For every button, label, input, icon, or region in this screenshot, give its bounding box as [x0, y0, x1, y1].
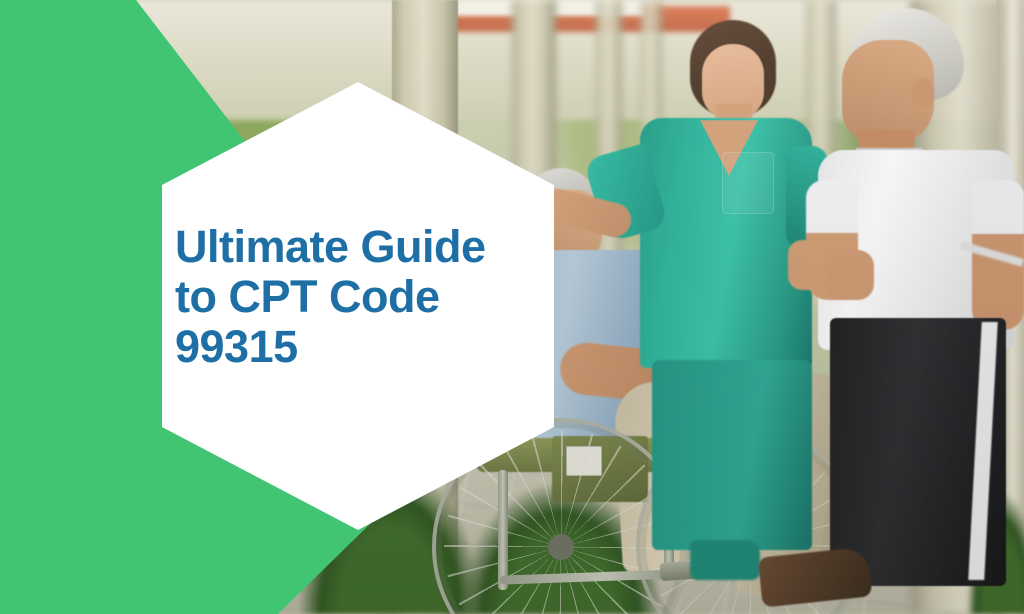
page-title: Ultimate Guide to CPT Code 99315 — [175, 222, 555, 372]
standing-man-ear — [912, 78, 934, 108]
standing-man-left-hand — [826, 250, 874, 300]
wheelchair-hub-large — [548, 534, 574, 560]
article-hero-banner: Ultimate Guide to CPT Code 99315 — [0, 0, 1024, 614]
nurse-scrub-pants — [652, 360, 812, 550]
nurse-chest-pocket — [722, 152, 774, 214]
nurse-shoe — [690, 540, 760, 580]
wheelchair-frame-bar-1 — [498, 470, 508, 590]
